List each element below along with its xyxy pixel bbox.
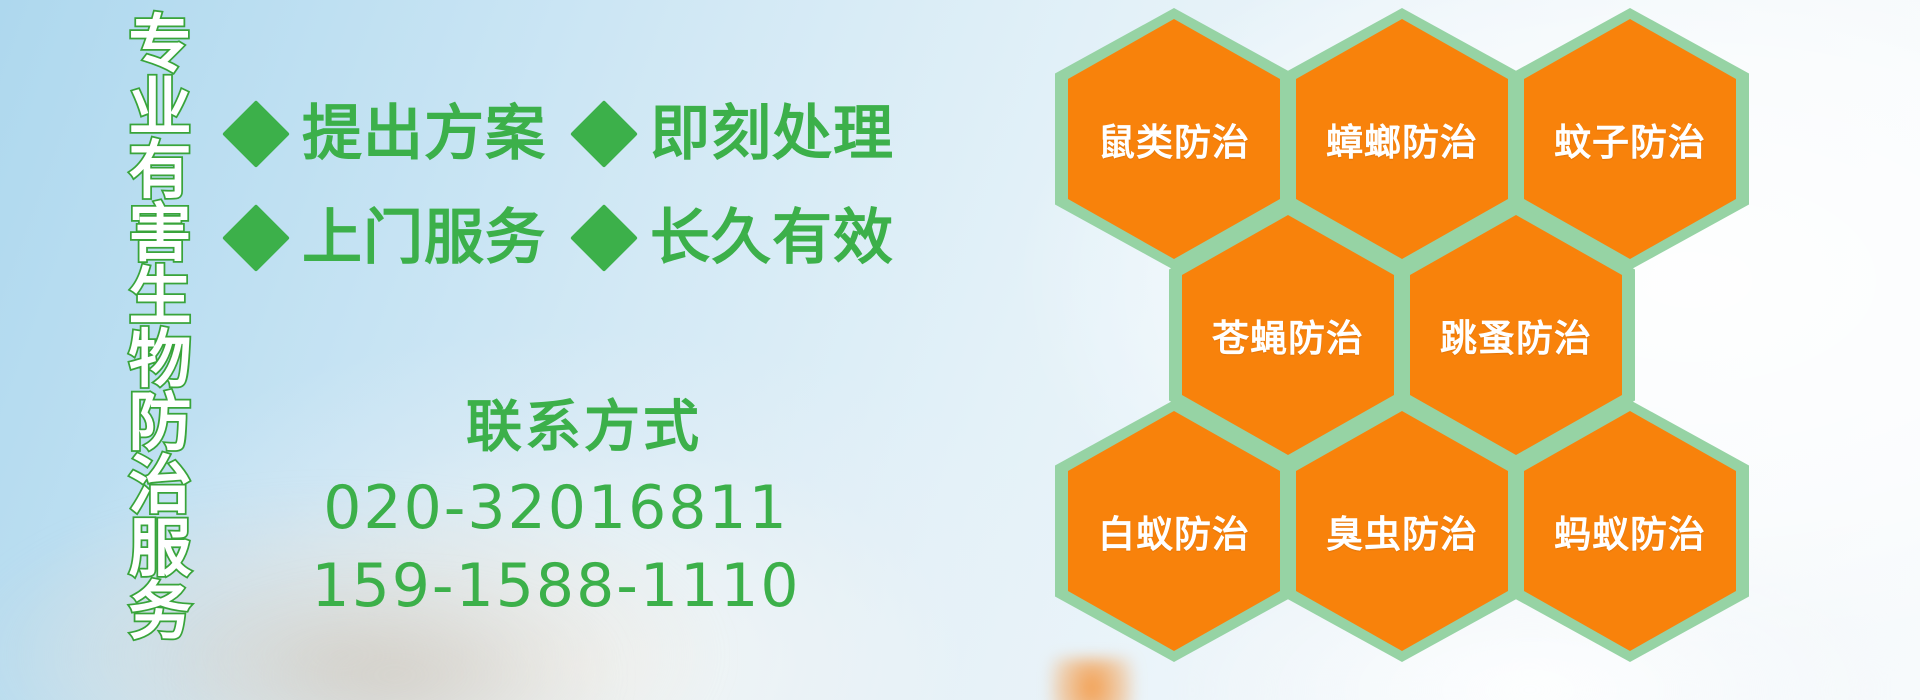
vertical-headline-char: 生: [129, 266, 192, 328]
feature-label: 上门服务: [302, 208, 546, 268]
feature-label: 提出方案: [302, 104, 546, 164]
feature-label: 长久有效: [650, 208, 894, 268]
feature-item-immediate: 即刻处理: [580, 104, 894, 164]
diamond-bullet-icon: [222, 100, 290, 168]
vertical-headline: 专 业 有 害 生 物 防 治 服 务: [108, 14, 212, 574]
service-hex-termite[interactable]: 白蚁防治: [1055, 400, 1293, 662]
feature-item-longlasting: 长久有效: [580, 208, 894, 268]
phone-number-mobile[interactable]: 159-1588-1110: [232, 547, 880, 625]
service-label: 白蚁防治: [1055, 400, 1293, 662]
service-label: 臭虫防治: [1283, 400, 1521, 662]
service-hex-bedbug[interactable]: 臭虫防治: [1283, 400, 1521, 662]
feature-list: 提出方案 即刻处理 上门服务 长久有效: [232, 82, 882, 290]
feature-row: 上门服务 长久有效: [232, 186, 882, 290]
diamond-bullet-icon: [222, 204, 290, 272]
vertical-headline-char: 服: [129, 518, 192, 580]
feature-label: 即刻处理: [650, 104, 894, 164]
vertical-headline-char: 防: [129, 392, 192, 454]
pest-control-banner: 专 业 有 害 生 物 防 治 服 务 提出方案 即刻处理 上门服务: [0, 0, 1920, 700]
vertical-headline-char: 害: [129, 203, 192, 265]
feature-item-proposal: 提出方案: [232, 104, 546, 164]
service-hex-ant[interactable]: 蚂蚁防治: [1511, 400, 1749, 662]
vertical-headline-char: 治: [129, 455, 192, 517]
vertical-headline-char: 有: [129, 140, 192, 202]
diamond-bullet-icon: [570, 100, 638, 168]
phone-number-landline[interactable]: 020-32016811: [232, 469, 880, 547]
contact-heading: 联系方式: [232, 395, 880, 459]
feature-item-onsite: 上门服务: [232, 208, 546, 268]
vertical-headline-char: 专: [129, 14, 192, 76]
service-honeycomb: 鼠类防治 蟑螂防治 蚊子防治 苍蝇防治 跳蚤防治 白蚁防治: [1055, 8, 1775, 698]
diamond-bullet-icon: [570, 204, 638, 272]
vertical-headline-char: 物: [129, 329, 192, 391]
vertical-headline-char: 业: [129, 77, 192, 139]
contact-block: 联系方式 020-32016811 159-1588-1110: [232, 395, 880, 625]
vertical-headline-char: 务: [129, 581, 192, 643]
feature-row: 提出方案 即刻处理: [232, 82, 882, 186]
service-label: 蚂蚁防治: [1511, 400, 1749, 662]
